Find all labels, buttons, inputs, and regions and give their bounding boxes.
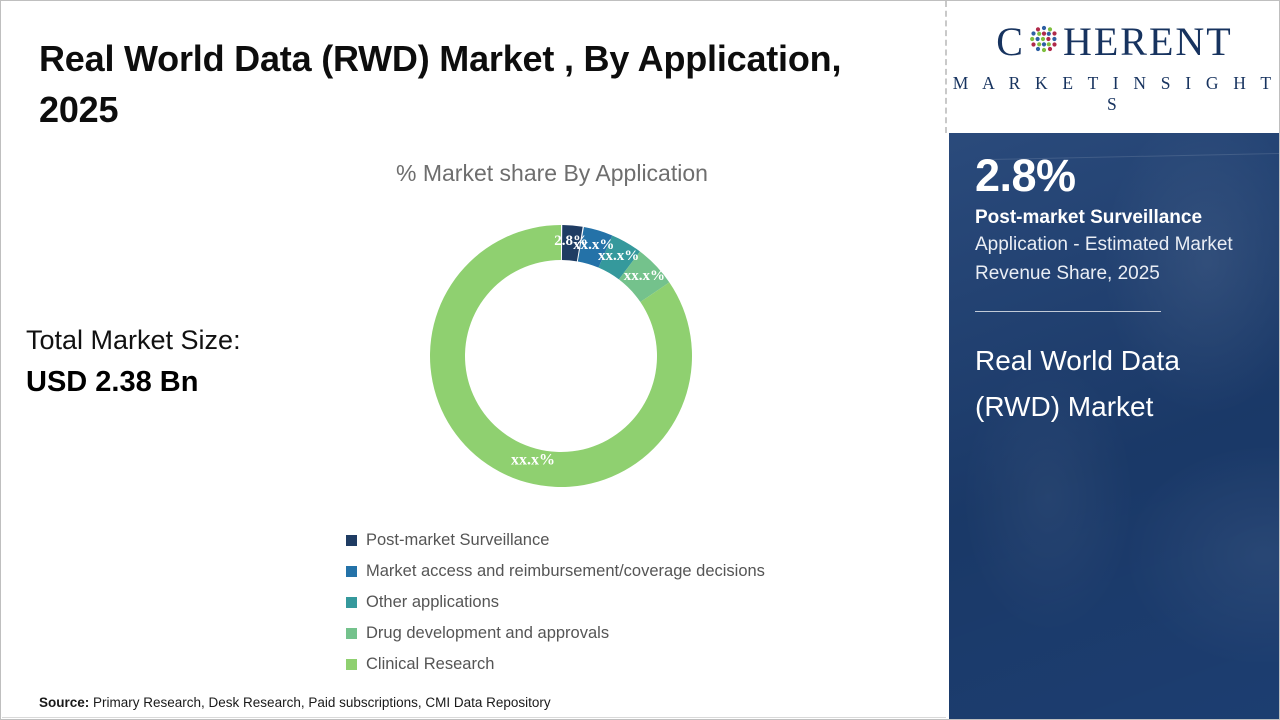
stat-segment-name: Post-market Surveillance bbox=[975, 205, 1254, 232]
donut-slice-label: xx.x% bbox=[598, 248, 639, 264]
legend-label: Drug development and approvals bbox=[366, 624, 609, 643]
legend-label: Post-market Surveillance bbox=[366, 531, 549, 550]
stat-description: Application - Estimated Market Revenue S… bbox=[975, 231, 1254, 289]
panel-market-name: Real World Data (RWD) Market bbox=[975, 338, 1254, 429]
market-size-label: Total Market Size: bbox=[26, 323, 356, 359]
source-note: Source: Primary Research, Desk Research,… bbox=[39, 695, 551, 710]
legend-swatch bbox=[346, 659, 357, 670]
infographic-frame: Real World Data (RWD) Market , By Applic… bbox=[0, 0, 1280, 720]
donut-slice-label: xx.x% bbox=[624, 268, 665, 284]
legend-swatch bbox=[346, 597, 357, 608]
market-size-value: USD 2.38 Bn bbox=[26, 363, 356, 402]
stat-value: 2.8% bbox=[975, 151, 1254, 201]
donut-slices bbox=[430, 225, 692, 487]
page-title: Real World Data (RWD) Market , By Applic… bbox=[39, 33, 909, 135]
legend-item: Market access and reimbursement/coverage… bbox=[346, 556, 906, 587]
total-market-size-block: Total Market Size: USD 2.38 Bn bbox=[26, 323, 356, 401]
chart-subtitle: % Market share By Application bbox=[396, 160, 826, 187]
donut-slice-label: xx.x% bbox=[511, 452, 555, 469]
legend-item: Drug development and approvals bbox=[346, 618, 906, 649]
donut-chart: 2.8%xx.x%xx.x%xx.x%xx.x% bbox=[426, 221, 696, 491]
logo-letter-c: C bbox=[996, 22, 1025, 62]
legend-swatch bbox=[346, 535, 357, 546]
legend-label: Market access and reimbursement/coverage… bbox=[366, 562, 765, 581]
legend-item: Post-market Surveillance bbox=[346, 525, 906, 556]
logo-wordmark: C bbox=[949, 21, 1280, 64]
globe-icon bbox=[1026, 22, 1062, 65]
legend-item: Other applications bbox=[346, 587, 906, 618]
source-text: Primary Research, Desk Research, Paid su… bbox=[89, 695, 550, 710]
source-label: Source: bbox=[39, 695, 89, 710]
logo-tagline: M A R K E T I N S I G H T S bbox=[949, 73, 1280, 115]
donut-chart-svg: 2.8%xx.x%xx.x%xx.x%xx.x% bbox=[426, 221, 696, 491]
legend-label: Other applications bbox=[366, 593, 499, 612]
logo-letters-herent: HERENT bbox=[1063, 22, 1233, 62]
legend-swatch bbox=[346, 628, 357, 639]
panel-divider bbox=[975, 311, 1161, 312]
vertical-dashed-divider bbox=[945, 1, 947, 133]
footer-divider bbox=[2, 717, 946, 718]
legend-label: Clinical Research bbox=[366, 655, 494, 674]
chart-legend: Post-market SurveillanceMarket access an… bbox=[346, 525, 906, 680]
legend-item: Clinical Research bbox=[346, 649, 906, 680]
brand-logo: C bbox=[949, 2, 1280, 133]
legend-swatch bbox=[346, 566, 357, 577]
side-stat-panel: 2.8% Post-market Surveillance Applicatio… bbox=[949, 133, 1280, 720]
